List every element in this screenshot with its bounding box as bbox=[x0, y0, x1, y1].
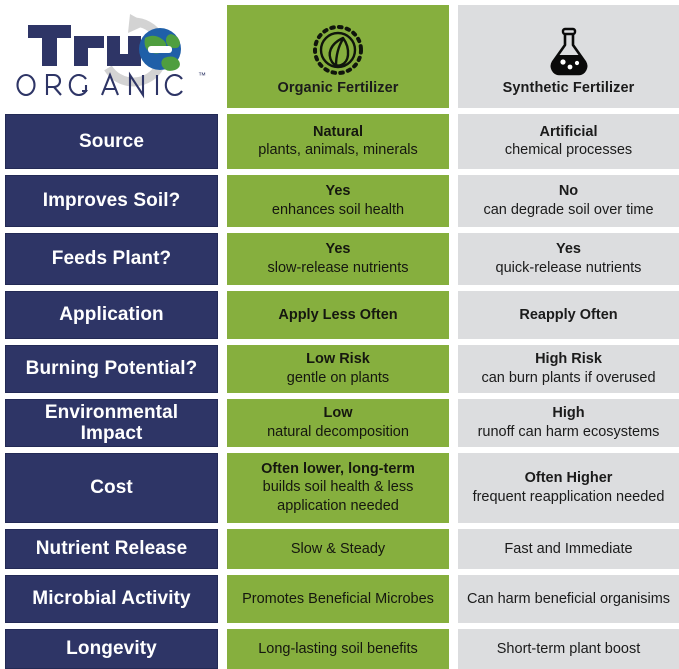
table-row: Nutrient Release Slow & Steady Fast and … bbox=[5, 529, 674, 569]
row-label: Cost bbox=[5, 453, 218, 523]
table-row: Microbial Activity Promotes Beneficial M… bbox=[5, 575, 674, 623]
row-label: Longevity bbox=[5, 629, 218, 669]
organic-sub: gentle on plants bbox=[287, 369, 389, 388]
chemical-flask-icon bbox=[541, 22, 597, 78]
organic-main: Often lower, long-term bbox=[261, 460, 415, 478]
organic-cell: Low Risk gentle on plants bbox=[227, 345, 449, 393]
organic-sub: enhances soil health bbox=[272, 201, 404, 220]
organic-cell: Yes enhances soil health bbox=[227, 175, 449, 227]
synthetic-main: Reapply Often bbox=[519, 306, 617, 324]
synthetic-main: High bbox=[552, 404, 584, 422]
synthetic-cell: Fast and Immediate bbox=[458, 529, 679, 569]
table-row: Application Apply Less Often Reapply Oft… bbox=[5, 291, 674, 339]
synthetic-sub: can burn plants if overused bbox=[481, 369, 655, 388]
row-label: Feeds Plant? bbox=[5, 233, 218, 285]
organic-main: Apply Less Often bbox=[278, 306, 397, 324]
row-label: Nutrient Release bbox=[5, 529, 218, 569]
synthetic-column-title: Synthetic Fertilizer bbox=[503, 81, 635, 97]
synthetic-value: Fast and Immediate bbox=[504, 540, 632, 559]
leaf-in-circle-icon bbox=[310, 22, 366, 78]
organic-cell: Long-lasting soil benefits bbox=[227, 629, 449, 669]
comparison-table-infographic: ™ Organic Fertilizer Synthetic F bbox=[0, 0, 679, 651]
table-header-row: ™ Organic Fertilizer Synthetic F bbox=[5, 5, 674, 108]
organic-sub: natural decomposition bbox=[267, 423, 409, 442]
synthetic-main: Yes bbox=[556, 240, 581, 258]
organic-main: Yes bbox=[326, 240, 351, 258]
table-row: Source Natural plants, animals, minerals… bbox=[5, 114, 674, 169]
organic-cell: Slow & Steady bbox=[227, 529, 449, 569]
organic-column-header: Organic Fertilizer bbox=[227, 5, 449, 108]
synthetic-sub: quick-release nutrients bbox=[496, 259, 642, 278]
organic-value: Slow & Steady bbox=[291, 540, 385, 559]
organic-main: Yes bbox=[326, 182, 351, 200]
synthetic-sub: chemical processes bbox=[505, 141, 632, 160]
synthetic-cell: Reapply Often bbox=[458, 291, 679, 339]
row-label: Environmental Impact bbox=[5, 399, 218, 447]
synthetic-main: Often Higher bbox=[525, 469, 613, 487]
row-label: Source bbox=[5, 114, 218, 169]
true-organic-logo-icon: ™ bbox=[14, 12, 210, 100]
organic-main: Low bbox=[324, 404, 353, 422]
organic-sub: plants, animals, minerals bbox=[258, 141, 418, 160]
organic-column-title: Organic Fertilizer bbox=[277, 81, 398, 97]
synthetic-value: Short-term plant boost bbox=[497, 640, 640, 659]
brand-logo: ™ bbox=[5, 5, 218, 108]
organic-main: Low Risk bbox=[306, 350, 370, 368]
trademark-symbol: ™ bbox=[198, 71, 206, 80]
table-row: Cost Often lower, long-term builds soil … bbox=[5, 453, 674, 523]
organic-sub: builds soil health & less application ne… bbox=[232, 478, 444, 516]
organic-cell: Low natural decomposition bbox=[227, 399, 449, 447]
row-label: Burning Potential? bbox=[5, 345, 218, 393]
synthetic-cell: High runoff can harm ecosystems bbox=[458, 399, 679, 447]
organic-value: Promotes Beneficial Microbes bbox=[242, 590, 434, 609]
synthetic-cell: Can harm beneficial organisims bbox=[458, 575, 679, 623]
organic-value: Long-lasting soil benefits bbox=[258, 640, 418, 659]
synthetic-value: Can harm beneficial organisims bbox=[467, 590, 670, 609]
synthetic-main: High Risk bbox=[535, 350, 602, 368]
table-row: Environmental Impact Low natural decompo… bbox=[5, 399, 674, 447]
synthetic-cell: Short-term plant boost bbox=[458, 629, 679, 669]
table-row: Improves Soil? Yes enhances soil health … bbox=[5, 175, 674, 227]
row-label: Microbial Activity bbox=[5, 575, 218, 623]
row-label: Improves Soil? bbox=[5, 175, 218, 227]
organic-main: Natural bbox=[313, 123, 363, 141]
organic-sub: slow-release nutrients bbox=[267, 259, 408, 278]
table-row: Burning Potential? Low Risk gentle on pl… bbox=[5, 345, 674, 393]
synthetic-main: No bbox=[559, 182, 578, 200]
organic-cell: Yes slow-release nutrients bbox=[227, 233, 449, 285]
synthetic-sub: runoff can harm ecosystems bbox=[478, 423, 660, 442]
synthetic-main: Artificial bbox=[539, 123, 597, 141]
synthetic-sub: can degrade soil over time bbox=[483, 201, 653, 220]
synthetic-cell: Yes quick-release nutrients bbox=[458, 233, 679, 285]
organic-cell: Often lower, long-term builds soil healt… bbox=[227, 453, 449, 523]
synthetic-cell: Artificial chemical processes bbox=[458, 114, 679, 169]
table-row: Longevity Long-lasting soil benefits Sho… bbox=[5, 629, 674, 669]
table-row: Feeds Plant? Yes slow-release nutrients … bbox=[5, 233, 674, 285]
synthetic-cell: No can degrade soil over time bbox=[458, 175, 679, 227]
synthetic-sub: frequent reapplication needed bbox=[473, 488, 665, 507]
organic-cell: Natural plants, animals, minerals bbox=[227, 114, 449, 169]
synthetic-column-header: Synthetic Fertilizer bbox=[458, 5, 679, 108]
organic-cell: Apply Less Often bbox=[227, 291, 449, 339]
row-label: Application bbox=[5, 291, 218, 339]
logo-artwork: ™ bbox=[14, 12, 210, 100]
synthetic-cell: Often Higher frequent reapplication need… bbox=[458, 453, 679, 523]
synthetic-cell: High Risk can burn plants if overused bbox=[458, 345, 679, 393]
organic-cell: Promotes Beneficial Microbes bbox=[227, 575, 449, 623]
